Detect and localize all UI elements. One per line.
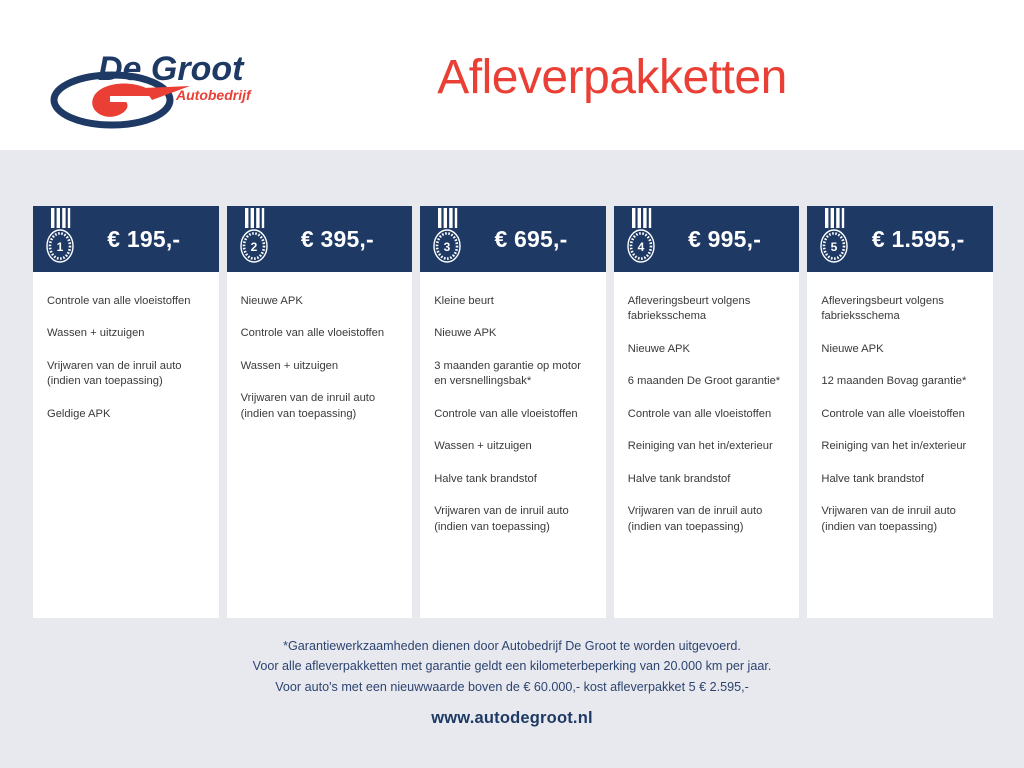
footer-line-1: *Garantiewerkzaamheden dienen door Autob… xyxy=(0,636,1024,656)
poster-page: De Groot Autobedrijf De Groot Autobedrij… xyxy=(0,0,1024,768)
medal-icon: 2 xyxy=(237,208,271,266)
feature-item: Halve tank brandstof xyxy=(628,472,786,487)
feature-item: Controle van alle vloeistoffen xyxy=(821,407,979,422)
page-title: Afleverpakketten xyxy=(0,50,1024,105)
feature-item: Controle van alle vloeistoffen xyxy=(241,326,399,341)
medal-icon: 5 xyxy=(817,208,851,266)
package-feature-list: Nieuwe APK Controle van alle vloeistoffe… xyxy=(227,272,413,618)
medal-number: 4 xyxy=(637,240,644,254)
footer-line-2: Voor alle afleverpakketten met garantie … xyxy=(0,656,1024,676)
package-price: € 995,- xyxy=(658,226,800,253)
feature-item: Vrijwaren van de inruil auto (indien van… xyxy=(241,391,399,422)
feature-item: Controle van alle vloeistoffen xyxy=(47,294,205,309)
feature-item: Wassen + uitzuigen xyxy=(241,359,399,374)
package-card-header: 2 € 395,- xyxy=(227,206,413,272)
feature-item: Halve tank brandstof xyxy=(821,472,979,487)
feature-item: 3 maanden garantie op motor en versnelli… xyxy=(434,359,592,390)
feature-item: Vrijwaren van de inruil auto (indien van… xyxy=(821,504,979,535)
medal-number: 5 xyxy=(831,240,838,254)
feature-item: Controle van alle vloeistoffen xyxy=(628,407,786,422)
package-price: € 695,- xyxy=(464,226,606,253)
website-url[interactable]: www.autodegroot.nl xyxy=(0,709,1024,728)
medal-number: 2 xyxy=(250,240,257,254)
medal-icon: 3 xyxy=(430,208,464,266)
header-band: De Groot Autobedrijf De Groot Autobedrij… xyxy=(0,0,1024,150)
package-card-header: 5 € 1.595,- xyxy=(807,206,993,272)
package-price: € 395,- xyxy=(271,226,413,253)
feature-item: Geldige APK xyxy=(47,407,205,422)
medal-icon: 4 xyxy=(624,208,658,266)
feature-item: Reiniging van het in/exterieur xyxy=(821,439,979,454)
package-price: € 195,- xyxy=(77,226,219,253)
package-feature-list: Kleine beurt Nieuwe APK 3 maanden garant… xyxy=(420,272,606,618)
package-card: 5 € 1.595,- Afleveringsbeurt volgens fab… xyxy=(807,206,993,618)
medal-number: 1 xyxy=(57,240,64,254)
medal-number: 3 xyxy=(444,240,451,254)
feature-item: Nieuwe APK xyxy=(628,342,786,357)
package-cards: 1 € 195,- Controle van alle vloeistoffen… xyxy=(33,206,993,618)
package-card: 2 € 395,- Nieuwe APK Controle van alle v… xyxy=(227,206,413,618)
package-card-header: 4 € 995,- xyxy=(614,206,800,272)
medal-icon: 1 xyxy=(43,208,77,266)
feature-item: 12 maanden Bovag garantie* xyxy=(821,374,979,389)
feature-item: Nieuwe APK xyxy=(434,326,592,341)
feature-item: Vrijwaren van de inruil auto (indien van… xyxy=(47,359,205,390)
feature-item: 6 maanden De Groot garantie* xyxy=(628,374,786,389)
feature-item: Vrijwaren van de inruil auto (indien van… xyxy=(434,504,592,535)
feature-item: Halve tank brandstof xyxy=(434,472,592,487)
feature-item: Nieuwe APK xyxy=(241,294,399,309)
package-card-header: 1 € 195,- xyxy=(33,206,219,272)
package-feature-list: Controle van alle vloeistoffen Wassen + … xyxy=(33,272,219,618)
feature-item: Vrijwaren van de inruil auto (indien van… xyxy=(628,504,786,535)
package-feature-list: Afleveringsbeurt volgens fabrieksschema … xyxy=(614,272,800,618)
feature-item: Kleine beurt xyxy=(434,294,592,309)
package-card: 4 € 995,- Afleveringsbeurt volgens fabri… xyxy=(614,206,800,618)
package-price: € 1.595,- xyxy=(851,226,993,253)
package-feature-list: Afleveringsbeurt volgens fabrieksschema … xyxy=(807,272,993,618)
feature-item: Wassen + uitzuigen xyxy=(47,326,205,341)
package-card: 3 € 695,- Kleine beurt Nieuwe APK 3 maan… xyxy=(420,206,606,618)
feature-item: Nieuwe APK xyxy=(821,342,979,357)
feature-item: Afleveringsbeurt volgens fabrieksschema xyxy=(628,294,786,325)
feature-item: Reiniging van het in/exterieur xyxy=(628,439,786,454)
feature-item: Controle van alle vloeistoffen xyxy=(434,407,592,422)
footer-disclaimer: *Garantiewerkzaamheden dienen door Autob… xyxy=(0,636,1024,697)
feature-item: Afleveringsbeurt volgens fabrieksschema xyxy=(821,294,979,325)
footer-line-3: Voor auto's met een nieuwwaarde boven de… xyxy=(0,677,1024,697)
feature-item: Wassen + uitzuigen xyxy=(434,439,592,454)
package-card: 1 € 195,- Controle van alle vloeistoffen… xyxy=(33,206,219,618)
package-card-header: 3 € 695,- xyxy=(420,206,606,272)
